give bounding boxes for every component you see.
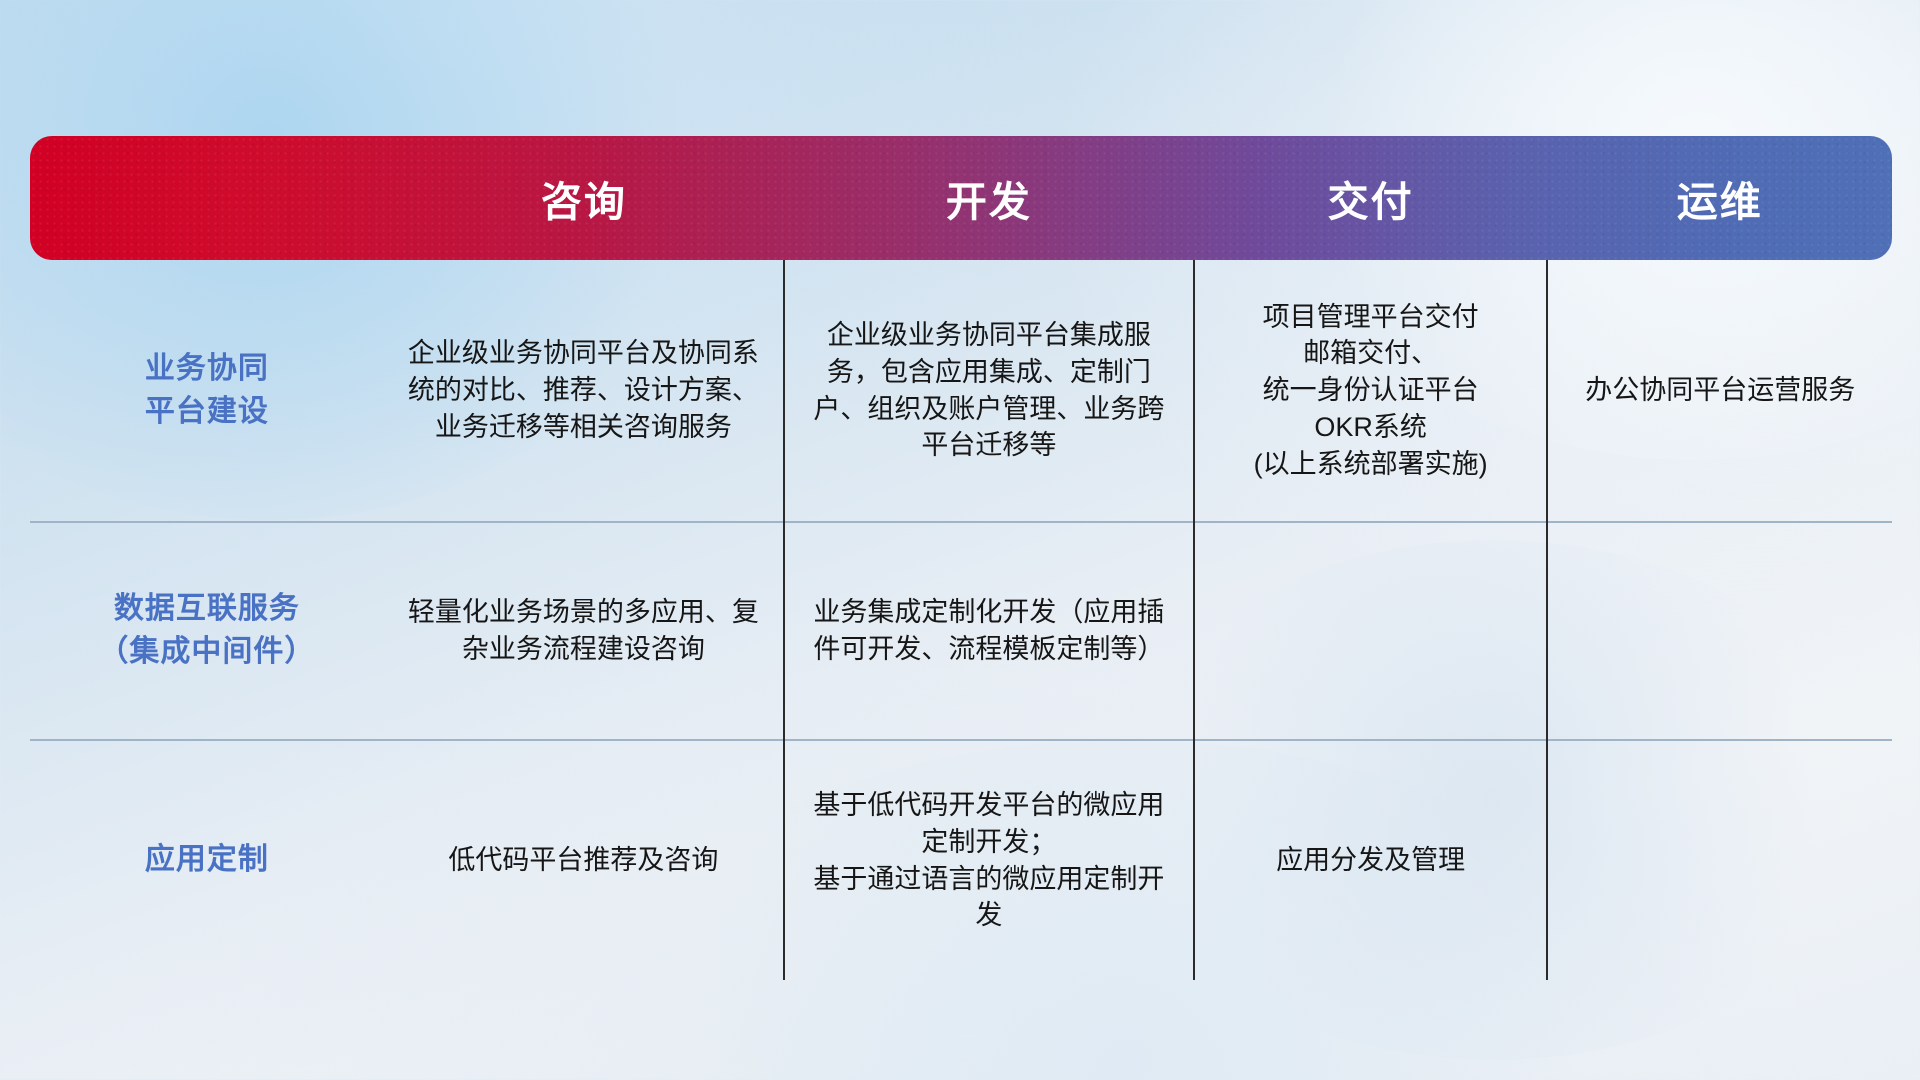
table-row: 业务协同 平台建设 企业级业务协同平台及协同系统的对比、推荐、设计方案、业务迁移…	[30, 260, 1892, 522]
cell-operations-row3	[1547, 740, 1892, 980]
cell-text: 办公协同平台运营服务	[1564, 372, 1876, 409]
table-row: 数据互联服务 （集成中间件） 轻量化业务场景的多应用、复杂业务流程建设咨询 业务…	[30, 522, 1892, 740]
cell-consulting-row3: 低代码平台推荐及咨询	[384, 740, 784, 980]
cell-text: 数据互联服务 （集成中间件）	[46, 588, 368, 673]
cell-consulting-row1: 企业级业务协同平台及协同系统的对比、推荐、设计方案、业务迁移等相关咨询服务	[384, 260, 784, 522]
column-header-category: 服务类别	[30, 136, 384, 260]
cell-text: 低代码平台推荐及咨询	[400, 842, 767, 879]
row-category-app-customization: 应用定制	[30, 740, 384, 980]
row-category-business-collaboration: 业务协同 平台建设	[30, 260, 384, 522]
table-row: 应用定制 低代码平台推荐及咨询 基于低代码开发平台的微应用定制开发； 基于通过语…	[30, 740, 1892, 980]
table-header: 服务类别 咨询 开发 交付 运维	[30, 136, 1892, 260]
column-header-consulting-label: 咨询	[541, 179, 627, 225]
cell-text: 应用定制	[46, 839, 368, 882]
cell-operations-row1: 办公协同平台运营服务	[1547, 260, 1892, 522]
column-header-consulting: 咨询	[384, 136, 784, 260]
cell-development-row2: 业务集成定制化开发（应用插件可开发、流程模板定制等）	[784, 522, 1194, 740]
table-header-row: 服务类别 咨询 开发 交付 运维	[30, 136, 1892, 260]
column-header-delivery-label: 交付	[1328, 179, 1414, 225]
service-matrix-table-container: 服务类别 咨询 开发 交付 运维 业务协同 平台建设	[30, 136, 1892, 956]
cell-text: 企业级业务协同平台集成服务，包含应用集成、定制门户、组织及账户管理、业务跨平台迁…	[801, 317, 1177, 464]
column-header-development-label: 开发	[946, 179, 1032, 225]
table-body: 业务协同 平台建设 企业级业务协同平台及协同系统的对比、推荐、设计方案、业务迁移…	[30, 260, 1892, 980]
cell-text: 应用分发及管理	[1211, 842, 1531, 879]
cell-text: 轻量化业务场景的多应用、复杂业务流程建设咨询	[400, 594, 767, 667]
cell-text: 业务集成定制化开发（应用插件可开发、流程模板定制等）	[801, 594, 1177, 667]
service-matrix-table: 服务类别 咨询 开发 交付 运维 业务协同 平台建设	[30, 136, 1892, 980]
column-header-delivery: 交付	[1194, 136, 1548, 260]
cell-delivery-row3: 应用分发及管理	[1194, 740, 1548, 980]
cell-text: 基于低代码开发平台的微应用定制开发； 基于通过语言的微应用定制开发	[801, 787, 1177, 934]
cell-text: 业务协同 平台建设	[46, 348, 368, 433]
cell-consulting-row2: 轻量化业务场景的多应用、复杂业务流程建设咨询	[384, 522, 784, 740]
cell-delivery-row2	[1194, 522, 1548, 740]
column-header-operations: 运维	[1547, 136, 1892, 260]
cell-development-row1: 企业级业务协同平台集成服务，包含应用集成、定制门户、组织及账户管理、业务跨平台迁…	[784, 260, 1194, 522]
cell-text: 项目管理平台交付 邮箱交付、 统一身份认证平台 OKR系统 (以上系统部署实施)	[1211, 299, 1531, 483]
column-header-operations-label: 运维	[1677, 179, 1763, 225]
column-header-development: 开发	[784, 136, 1194, 260]
row-category-data-interconnection: 数据互联服务 （集成中间件）	[30, 522, 384, 740]
cell-development-row3: 基于低代码开发平台的微应用定制开发； 基于通过语言的微应用定制开发	[784, 740, 1194, 980]
cell-delivery-row1: 项目管理平台交付 邮箱交付、 统一身份认证平台 OKR系统 (以上系统部署实施)	[1194, 260, 1548, 522]
cell-text: 企业级业务协同平台及协同系统的对比、推荐、设计方案、业务迁移等相关咨询服务	[400, 335, 767, 445]
cell-operations-row2	[1547, 522, 1892, 740]
